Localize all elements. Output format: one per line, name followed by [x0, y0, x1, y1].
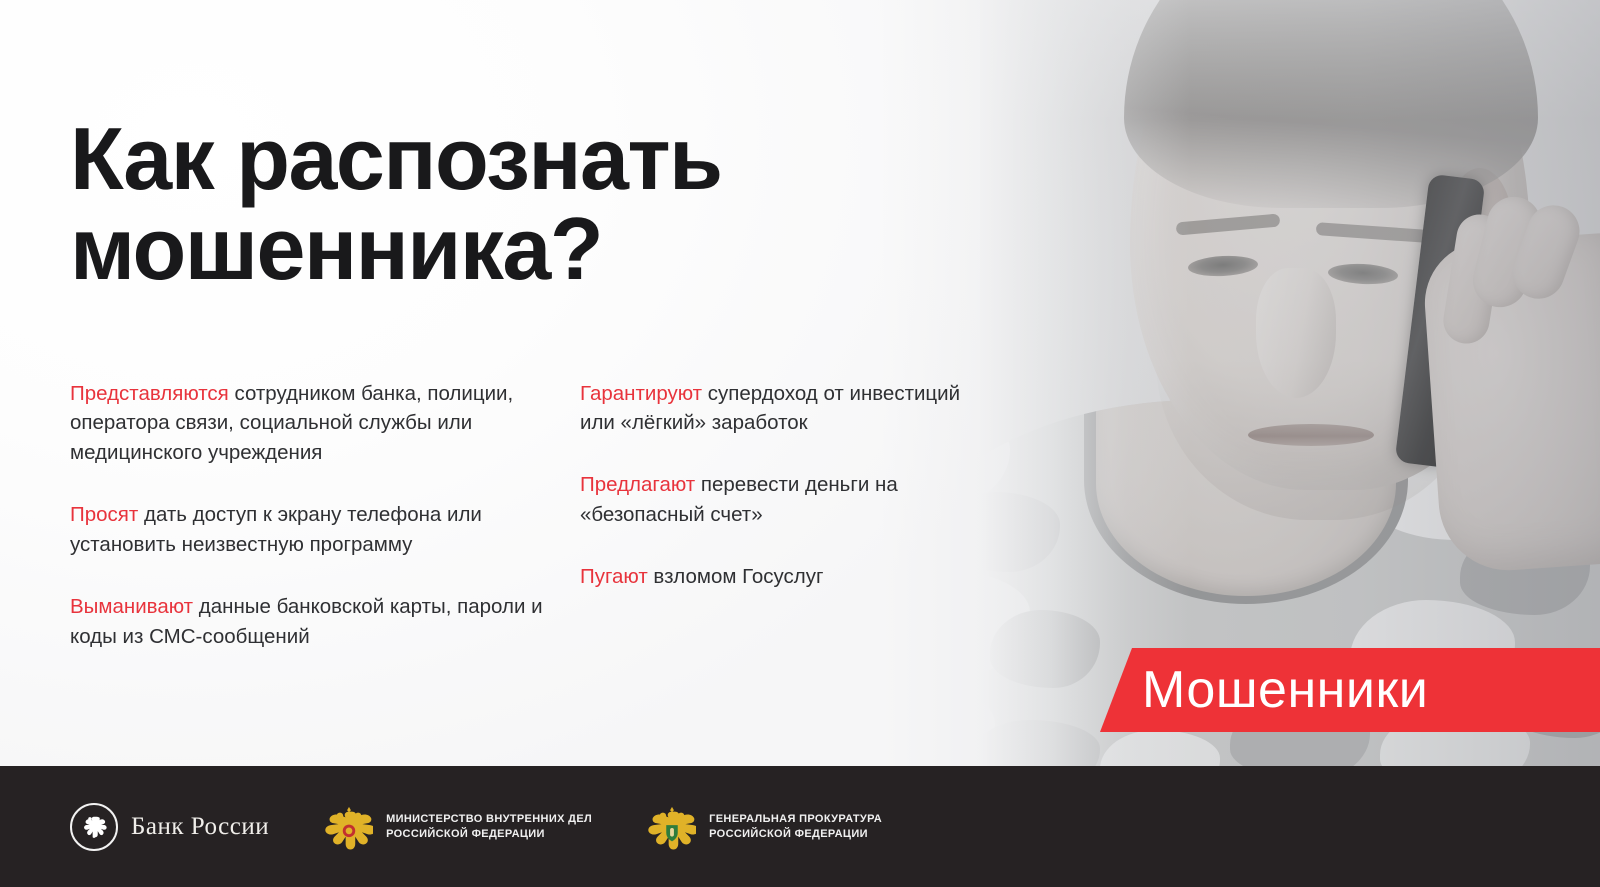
headline-line-2: мошенника?: [70, 204, 1050, 294]
double-headed-eagle-circle-icon: [70, 803, 118, 851]
warning-item: Представляются сотрудником банка, полици…: [70, 379, 580, 469]
banner-label: Мошенники: [1142, 664, 1428, 716]
logo-bank-of-russia-label: Банк России: [131, 813, 269, 841]
prosecutor-eagle-icon: [648, 804, 696, 850]
headline-line-1: Как распознать: [70, 114, 1050, 204]
logo-prosecutor-line-2: РОССИЙСКОЙ ФЕДЕРАЦИИ: [709, 827, 882, 841]
warning-column-left: Представляются сотрудником банка, полици…: [70, 358, 580, 652]
warning-keyword: Выманивают: [70, 595, 193, 618]
warning-keyword: Гарантируют: [580, 382, 702, 405]
logo-mvd-line-1: МИНИСТЕРСТВО ВНУТРЕННИХ ДЕЛ: [386, 812, 592, 826]
logo-mvd-label: МИНИСТЕРСТВО ВНУТРЕННИХ ДЕЛ РОССИЙСКОЙ Ф…: [386, 812, 592, 840]
logo-bank-of-russia: Банк России: [70, 803, 269, 851]
logo-prosecutor-line-1: ГЕНЕРАЛЬНАЯ ПРОКУРАТУРА: [709, 812, 882, 826]
logo-prosecutor-general-label: ГЕНЕРАЛЬНАЯ ПРОКУРАТУРА РОССИЙСКОЙ ФЕДЕР…: [709, 812, 882, 840]
warning-keyword: Пугают: [580, 565, 648, 588]
footer-bar: Банк России МИНИСТЕРСТВО ВНУТРЕННИХ ДЕЛ …: [0, 766, 1600, 887]
warning-item: Гарантируют супердоход от инвестиций или…: [580, 379, 1000, 439]
warning-column-right: Гарантируют супердоход от инвестиций или…: [580, 358, 1000, 652]
mvd-eagle-icon: [325, 804, 373, 850]
warning-item: Просят дать доступ к экрану телефона или…: [70, 500, 580, 560]
warning-keyword: Просят: [70, 503, 138, 526]
warning-keyword: Предлагают: [580, 473, 695, 496]
warning-list: Представляются сотрудником банка, полици…: [70, 358, 1000, 652]
warning-item: Предлагают перевести деньги на «безопасн…: [580, 470, 1000, 530]
warning-keyword: Представляются: [70, 382, 229, 405]
logo-mvd: МИНИСТЕРСТВО ВНУТРЕННИХ ДЕЛ РОССИЙСКОЙ Ф…: [325, 804, 592, 850]
status-badge: Мошенники: [1100, 648, 1600, 732]
warning-item: Пугают взломом Госуслуг: [580, 562, 1000, 592]
warning-item: Выманивают данные банковской карты, паро…: [70, 592, 580, 652]
poster-root: Как распознать мошенника? Представляются…: [0, 0, 1600, 887]
warning-text: взломом Госуслуг: [648, 565, 824, 588]
page-title: Как распознать мошенника?: [70, 114, 1050, 294]
logo-prosecutor-general: ГЕНЕРАЛЬНАЯ ПРОКУРАТУРА РОССИЙСКОЙ ФЕДЕР…: [648, 804, 882, 850]
footer-logos: Банк России МИНИСТЕРСТВО ВНУТРЕННИХ ДЕЛ …: [70, 766, 882, 887]
logo-mvd-line-2: РОССИЙСКОЙ ФЕДЕРАЦИИ: [386, 827, 592, 841]
